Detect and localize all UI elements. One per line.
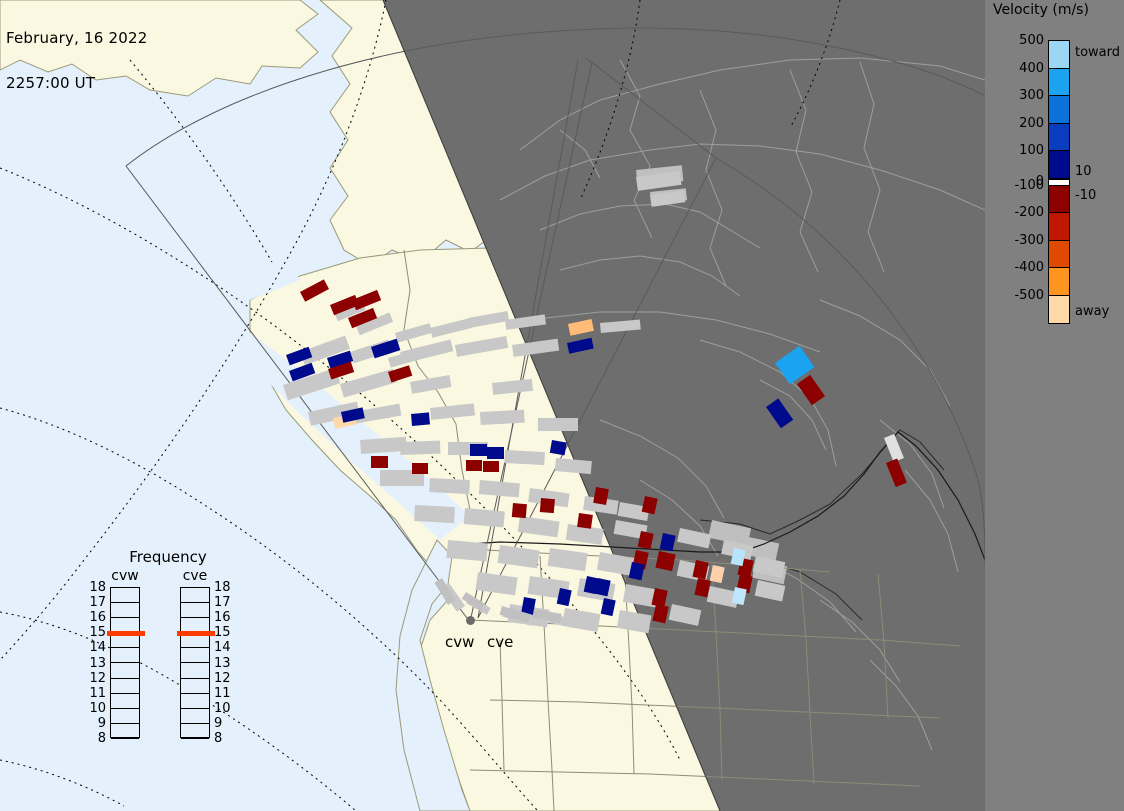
frequency-column-cve xyxy=(180,587,210,738)
velocity-band-zero xyxy=(1049,179,1069,186)
velocity-legend-panel: Velocity (m/s) 5004003002001000-100-200-… xyxy=(985,0,1124,811)
velocity-cell[interactable] xyxy=(483,461,499,472)
frequency-tick-left-17: 17 xyxy=(84,596,106,609)
superdarn-velocity-map: cvw cve February, 16 2022 2257:00 UT Fre… xyxy=(0,0,1124,811)
velocity-toward-label: toward xyxy=(1075,46,1120,59)
ground-scatter-cell xyxy=(446,540,487,561)
frequency-cell xyxy=(111,588,139,603)
frequency-marker-cvw xyxy=(107,631,145,636)
velocity-zero-upper-label: 10 xyxy=(1075,165,1092,178)
frequency-column-cvw xyxy=(110,587,140,738)
radar-site-label-cvw: cvw xyxy=(445,633,474,651)
frequency-tick-right-13: 13 xyxy=(214,657,236,670)
velocity-band-away-4 xyxy=(1049,296,1069,324)
velocity-cell[interactable] xyxy=(593,487,609,505)
frequency-cell xyxy=(181,724,209,739)
velocity-tick-500: 500 xyxy=(996,34,1044,47)
frequency-tick-left-13: 13 xyxy=(84,657,106,670)
velocity-colorbar[interactable] xyxy=(1048,40,1070,324)
radar-site-label-cve: cve xyxy=(487,633,513,651)
timestamp-time: 2257:00 UT xyxy=(6,76,147,91)
radar-site-marker xyxy=(466,616,475,625)
velocity-band-away-3 xyxy=(1049,268,1069,296)
velocity-tick--500: -500 xyxy=(996,289,1044,302)
frequency-tick-right-8: 8 xyxy=(214,732,236,745)
velocity-cell[interactable] xyxy=(550,440,567,455)
velocity-cell[interactable] xyxy=(412,463,428,474)
frequency-tick-right-15: 15 xyxy=(214,626,236,639)
velocity-band-away-1 xyxy=(1049,213,1069,241)
velocity-cell[interactable] xyxy=(487,447,504,459)
frequency-cell xyxy=(181,603,209,618)
ground-scatter-cell xyxy=(400,441,440,455)
frequency-tick-right-11: 11 xyxy=(214,687,236,700)
velocity-band-toward-0 xyxy=(1049,41,1069,69)
velocity-cell[interactable] xyxy=(540,498,555,513)
frequency-tick-left-8: 8 xyxy=(84,732,106,745)
frequency-cell xyxy=(181,709,209,724)
frequency-cell xyxy=(111,664,139,679)
velocity-legend-title: Velocity (m/s) xyxy=(993,2,1124,18)
frequency-cell xyxy=(181,588,209,603)
frequency-tick-right-12: 12 xyxy=(214,672,236,685)
frequency-marker-cve xyxy=(177,631,215,636)
frequency-tick-right-10: 10 xyxy=(214,702,236,715)
frequency-tick-right-17: 17 xyxy=(214,596,236,609)
frequency-cell xyxy=(111,694,139,709)
map-canvas[interactable]: cvw cve February, 16 2022 2257:00 UT Fre… xyxy=(0,0,985,811)
velocity-cell[interactable] xyxy=(655,551,675,571)
velocity-tick-400: 400 xyxy=(996,62,1044,75)
frequency-tick-left-10: 10 xyxy=(84,702,106,715)
frequency-tick-right-9: 9 xyxy=(214,717,236,730)
velocity-tick--200: -200 xyxy=(996,206,1044,219)
velocity-tick-300: 300 xyxy=(996,89,1044,102)
frequency-cell xyxy=(181,679,209,694)
frequency-tick-right-14: 14 xyxy=(214,641,236,654)
velocity-tick--100: -100 xyxy=(996,179,1044,192)
velocity-band-toward-1 xyxy=(1049,69,1069,97)
frequency-legend-title: Frequency xyxy=(108,548,228,566)
frequency-cell xyxy=(181,694,209,709)
velocity-cell[interactable] xyxy=(371,456,388,468)
ground-scatter-cell xyxy=(480,410,525,425)
velocity-band-toward-3 xyxy=(1049,124,1069,152)
velocity-band-away-0 xyxy=(1049,186,1069,214)
velocity-tick-200: 200 xyxy=(996,117,1044,130)
velocity-cell[interactable] xyxy=(411,412,430,426)
velocity-cell[interactable] xyxy=(512,503,527,518)
frequency-tick-right-18: 18 xyxy=(214,581,236,594)
frequency-cell xyxy=(111,724,139,739)
velocity-away-label: away xyxy=(1075,305,1109,318)
frequency-cell xyxy=(181,664,209,679)
velocity-zero-lower-label: -10 xyxy=(1075,189,1096,202)
ground-scatter-cell xyxy=(538,418,578,431)
frequency-legend: Frequency cvw cve 18171615141312111098 1… xyxy=(90,548,240,788)
timestamp-date: February, 16 2022 xyxy=(6,31,147,46)
velocity-tick--300: -300 xyxy=(996,234,1044,247)
frequency-cell xyxy=(111,679,139,694)
frequency-tick-left-14: 14 xyxy=(84,641,106,654)
frequency-column-label-cvw: cvw xyxy=(102,568,148,584)
frequency-tick-left-16: 16 xyxy=(84,611,106,624)
frequency-cell xyxy=(111,709,139,724)
velocity-band-toward-4 xyxy=(1049,151,1069,179)
frequency-tick-left-11: 11 xyxy=(84,687,106,700)
frequency-column-label-cve: cve xyxy=(172,568,218,584)
velocity-cell[interactable] xyxy=(577,513,593,529)
timestamp-block: February, 16 2022 2257:00 UT xyxy=(6,1,147,121)
frequency-tick-right-16: 16 xyxy=(214,611,236,624)
ground-scatter-cell xyxy=(414,505,455,523)
velocity-tick-100: 100 xyxy=(996,144,1044,157)
frequency-tick-left-12: 12 xyxy=(84,672,106,685)
frequency-cell xyxy=(111,648,139,663)
velocity-cell[interactable] xyxy=(466,460,482,471)
frequency-tick-left-9: 9 xyxy=(84,717,106,730)
frequency-tick-left-15: 15 xyxy=(84,626,106,639)
velocity-cell[interactable] xyxy=(470,444,487,456)
ground-scatter-cell xyxy=(504,450,545,465)
velocity-band-away-2 xyxy=(1049,241,1069,269)
ground-scatter-cell xyxy=(429,478,470,494)
frequency-cell xyxy=(111,603,139,618)
velocity-band-toward-2 xyxy=(1049,96,1069,124)
frequency-cell xyxy=(181,648,209,663)
velocity-tick--400: -400 xyxy=(996,261,1044,274)
frequency-tick-left-18: 18 xyxy=(84,581,106,594)
